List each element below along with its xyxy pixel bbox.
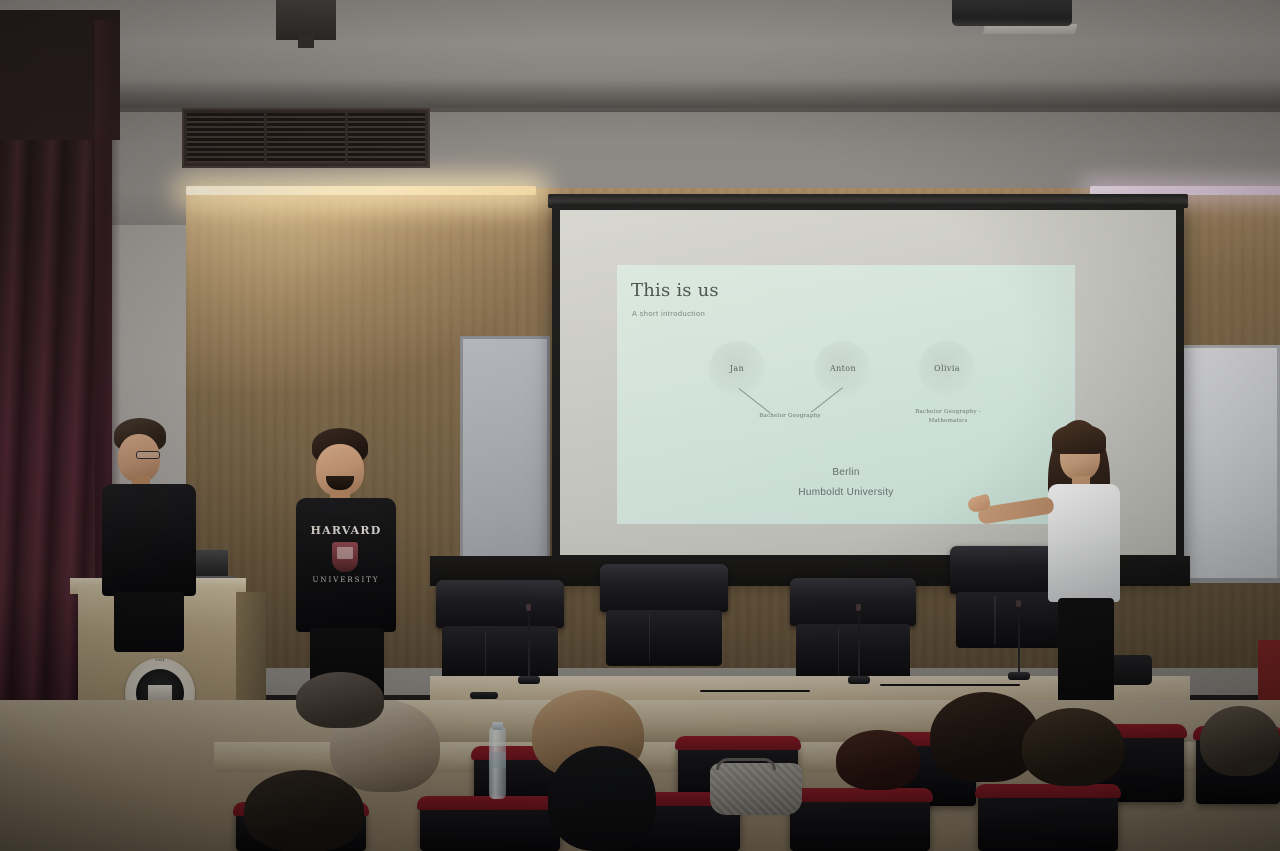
vent-panel: [187, 113, 264, 163]
stage-chair: [600, 564, 728, 680]
microphone-stem: [528, 608, 530, 678]
microphone-head: [1016, 600, 1021, 607]
slide-caption-olivia-line2: Mathematics: [909, 417, 987, 425]
presenter-left: [100, 418, 200, 658]
air-vent-grille: [182, 108, 430, 168]
chair-backrest: [600, 564, 728, 612]
harvard-crest-icon: [332, 542, 358, 572]
audience-head: [1200, 706, 1280, 776]
presenter-right-legs: [1058, 598, 1114, 706]
slide-caption-olivia-line1: Bachelor Geography -: [909, 408, 987, 416]
chair-seam: [994, 596, 996, 644]
presentation-remote: [470, 692, 498, 699]
chair-backrest: [790, 578, 916, 626]
presenter-left-torso: [102, 484, 196, 596]
slide-connector-jan: [738, 388, 770, 413]
stage-chair: [790, 578, 916, 682]
chair-seam: [649, 614, 651, 662]
presenter-right: [1030, 420, 1140, 710]
audience-seat: [978, 788, 1118, 851]
microphone-stem: [1018, 604, 1020, 674]
slide-title: This is us: [631, 280, 719, 301]
microphone-base: [848, 676, 870, 684]
lecture-hall-photo: This is us A short introduction Jan Anto…: [0, 0, 1280, 851]
slide-node-name-olivia: Olivia: [919, 364, 975, 373]
chair-seam: [485, 630, 487, 678]
slide-footer-university: Humboldt University: [617, 487, 1075, 498]
chair-backrest: [436, 580, 564, 628]
water-bottle-cap: [492, 722, 503, 730]
microphone-head: [526, 604, 531, 611]
projector-icon: [952, 0, 1072, 26]
slide-caption-shared: Bachelor Geography: [735, 412, 845, 420]
microphone-cable: [700, 690, 810, 692]
chair-seat: [442, 626, 557, 682]
whiteboard-left: [460, 336, 550, 576]
handbag: [710, 763, 802, 815]
eyeglasses-icon: [136, 451, 160, 459]
slide-node-name-anton: Anton: [815, 364, 871, 373]
harvard-shirt-subtext: UNIVERSITY: [296, 576, 396, 584]
audience-seat: [790, 792, 930, 851]
presenter-right-torso: [1048, 484, 1120, 602]
whiteboard-right: [1176, 345, 1280, 581]
presenter-right-hair-front: [1052, 424, 1106, 454]
harvard-shirt-text: HARVARD: [296, 524, 396, 537]
audience-seat: [420, 800, 560, 851]
audience-head: [548, 746, 656, 851]
audience-head: [296, 672, 384, 728]
presentation-slide: This is us A short introduction Jan Anto…: [617, 265, 1075, 524]
water-bottle-label: [489, 752, 506, 768]
chair-seam: [838, 628, 840, 676]
stage-chair: [436, 580, 564, 684]
vent-panel: [348, 113, 425, 163]
chair-seat: [796, 624, 909, 680]
microphone-base: [518, 676, 540, 684]
chair-seat: [606, 610, 721, 666]
microphone-head: [856, 604, 861, 611]
handbag-strap: [716, 758, 776, 770]
slide-footer-city: Berlin: [617, 467, 1075, 478]
slide-node-name-jan: Jan: [709, 364, 765, 373]
ceiling-fixture-stem: [298, 36, 314, 48]
audience-head: [836, 730, 920, 790]
microphone-cable: [880, 684, 1020, 686]
slide-subtitle: A short introduction: [632, 309, 705, 318]
ceiling-fixture: [276, 0, 336, 40]
ceiling-shadow: [0, 78, 1280, 112]
led-light-strip-left: [186, 186, 536, 195]
microphone-base: [1008, 672, 1030, 680]
vent-panel: [267, 113, 344, 163]
audience-head: [1022, 708, 1124, 786]
presenter-left-legs: [114, 592, 184, 652]
microphone-stem: [858, 608, 860, 678]
presenter-center-torso: HARVARD UNIVERSITY: [296, 498, 396, 632]
